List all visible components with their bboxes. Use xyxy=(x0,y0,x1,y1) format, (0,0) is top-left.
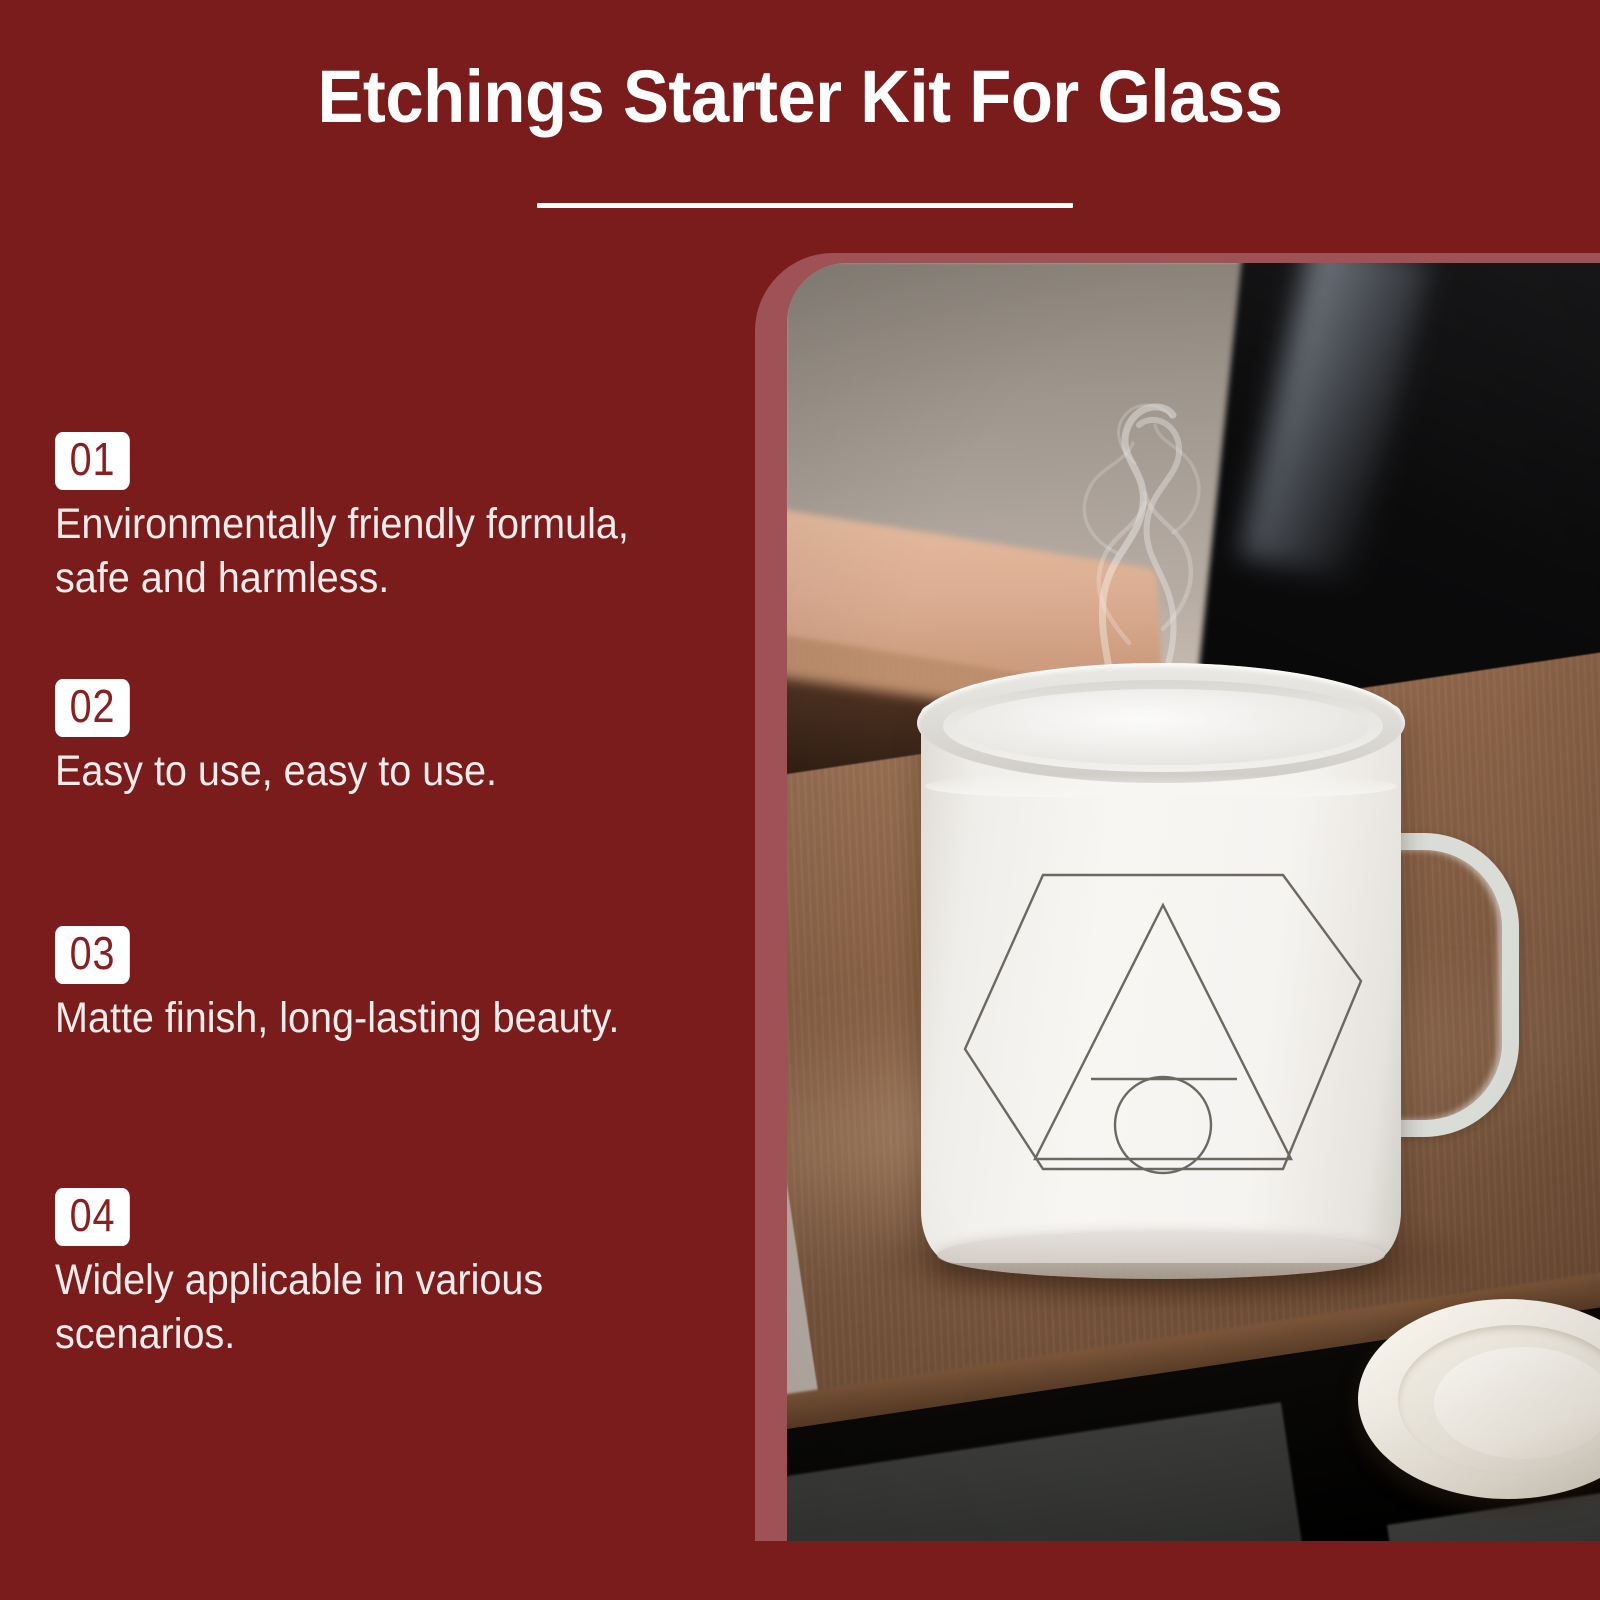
etched-geometric-motif-icon xyxy=(951,863,1375,1193)
page-title: Etchings Starter Kit For Glass xyxy=(56,54,1544,139)
ceramic-lid xyxy=(1358,1299,1600,1499)
poster-canvas: Etchings Starter Kit For Glass 01 Enviro… xyxy=(0,0,1600,1600)
glass-mug xyxy=(921,663,1401,1271)
mug-frost-boundary xyxy=(925,775,1397,797)
feature-number-badge: 01 xyxy=(55,432,130,490)
mug-liquid-surface xyxy=(957,689,1369,765)
title-underline xyxy=(537,203,1073,208)
product-photo-frame xyxy=(755,253,1600,1541)
feature-text: Environmentally friendly formula, safe a… xyxy=(55,497,699,606)
feature-number-badge: 03 xyxy=(55,926,130,984)
mug-base xyxy=(937,1231,1385,1279)
feature-text: Widely applicable in various scenarios. xyxy=(55,1253,699,1362)
feature-number-badge: 04 xyxy=(55,1188,130,1246)
feature-item-04: 04 Widely applicable in various scenario… xyxy=(55,1188,755,1362)
feature-item-02: 02 Easy to use, easy to use. xyxy=(55,679,755,798)
feature-item-03: 03 Matte finish, long-lasting beauty. xyxy=(55,926,755,1045)
feature-number-badge: 02 xyxy=(55,679,130,737)
lid-inner-surface xyxy=(1434,1347,1600,1459)
feature-text: Matte finish, long-lasting beauty. xyxy=(55,991,699,1046)
product-photo xyxy=(787,263,1600,1541)
photo-scene xyxy=(787,263,1600,1541)
feature-text: Easy to use, easy to use. xyxy=(55,744,699,799)
feature-item-01: 01 Environmentally friendly formula, saf… xyxy=(55,432,755,606)
